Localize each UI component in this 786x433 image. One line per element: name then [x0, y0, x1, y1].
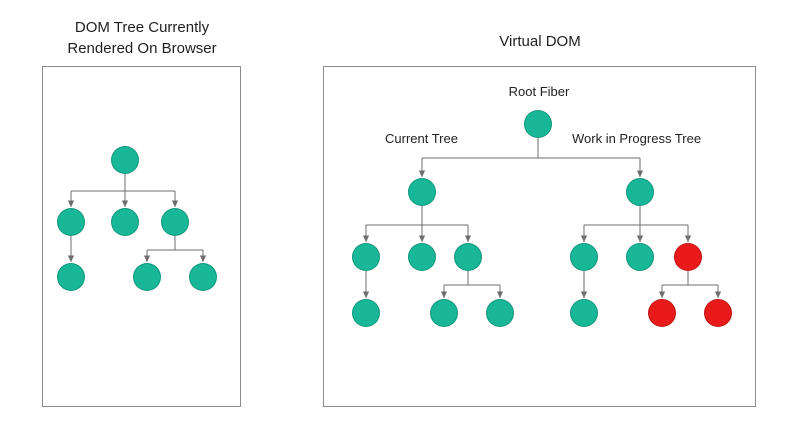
label-work-in-progress-tree: Work in Progress Tree [572, 131, 701, 147]
tree-node-l2b [133, 263, 161, 291]
tree-node-w2c [704, 299, 732, 327]
tree-node-l1c [161, 208, 189, 236]
tree-node-c2b [430, 299, 458, 327]
tree-node-c2c [486, 299, 514, 327]
tree-node-w2b [648, 299, 676, 327]
panel-browser-dom [42, 66, 241, 407]
tree-node-w1c [674, 243, 702, 271]
label-current-tree: Current Tree [385, 131, 458, 147]
tree-node-c2a [352, 299, 380, 327]
tree-node-l1b [111, 208, 139, 236]
tree-node-c1b [408, 243, 436, 271]
tree-node-w0 [626, 178, 654, 206]
diagram-canvas: DOM Tree Currently Rendered On Browser V… [0, 0, 786, 433]
tree-node-w1a [570, 243, 598, 271]
tree-node-w2a [570, 299, 598, 327]
tree-node-c1c [454, 243, 482, 271]
tree-node-w1b [626, 243, 654, 271]
tree-node-l1a [57, 208, 85, 236]
page-title-left-panel: DOM Tree Currently Rendered On Browser [22, 17, 262, 59]
page-title-right-panel: Virtual DOM [400, 31, 680, 52]
tree-node-l2a [57, 263, 85, 291]
tree-node-c0 [408, 178, 436, 206]
tree-node-c1a [352, 243, 380, 271]
tree-node-l2c [189, 263, 217, 291]
label-root-fiber: Root Fiber [500, 84, 578, 100]
tree-node-r0 [524, 110, 552, 138]
tree-node-l0 [111, 146, 139, 174]
